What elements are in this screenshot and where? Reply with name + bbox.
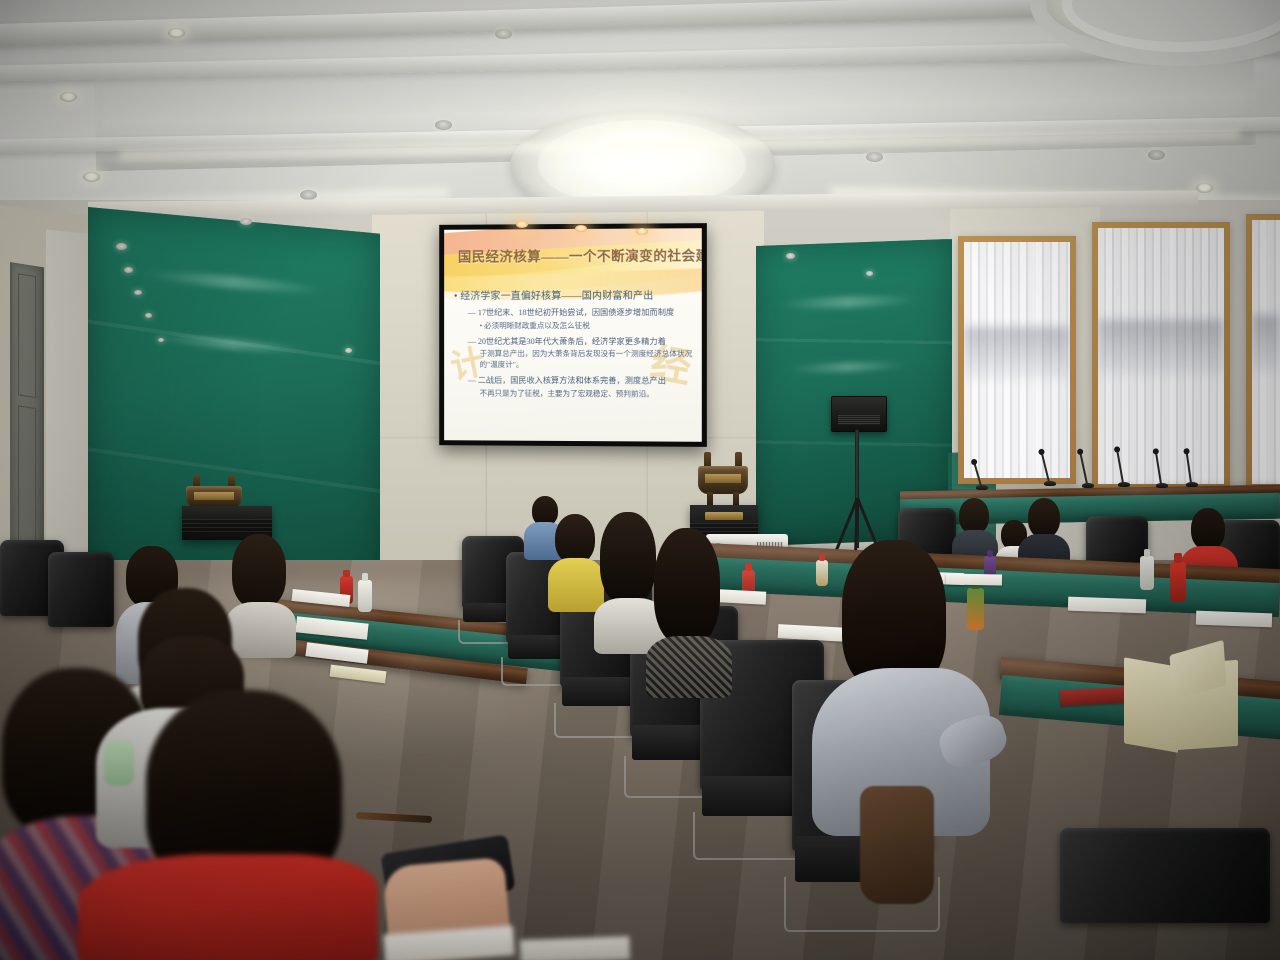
pa-speaker — [831, 396, 887, 432]
slide-bullet-level3: 于测算总产出，因为大萧条背后发现没有一个测度经济总体状况的"温度计"。 — [480, 349, 694, 371]
pedestal-plaque — [705, 512, 743, 520]
panel-reflection — [787, 360, 909, 373]
chair-back — [1060, 828, 1270, 923]
chair-back — [48, 552, 114, 627]
downlight-reflection — [116, 243, 127, 250]
window — [1092, 222, 1230, 490]
window-blinds[interactable] — [1252, 220, 1280, 484]
downlight-reflection — [124, 267, 133, 273]
attendee-torso — [646, 636, 732, 698]
downlight-icon — [1148, 150, 1165, 160]
downlight-reflection — [158, 338, 164, 342]
attendee — [646, 528, 732, 694]
downlight-icon — [83, 172, 100, 182]
downlight-reflection — [240, 218, 252, 225]
handout-paper — [520, 936, 631, 960]
speaker-grille-icon — [838, 415, 880, 425]
open-book — [1124, 662, 1238, 748]
window — [958, 236, 1076, 484]
slide-bullet-level2: — 17世纪末、18世纪初开始尝试，因国债逐步增加而制度 — [468, 307, 694, 319]
bottle-cap — [1174, 553, 1182, 563]
downlight-reflection — [866, 271, 873, 276]
handbag — [860, 786, 934, 904]
green-object — [104, 740, 134, 786]
downlight-reflection — [145, 313, 152, 318]
attendee-foreground-red — [78, 690, 378, 960]
bottle-cap — [1144, 549, 1151, 557]
slide-bullet-level2: — 二战后，国民收入核算方法和体系完善，测度总产出 — [468, 374, 694, 386]
downlight-icon — [1196, 183, 1213, 193]
slide-bullet-level3: 不再只是为了征税，主要为了宏观稳定、预判前沿。 — [480, 388, 694, 399]
blind-gap — [1126, 228, 1133, 484]
panel-reflection — [152, 332, 310, 356]
panel-reflection — [776, 294, 921, 310]
bottle-cap — [343, 570, 349, 577]
downlight-icon — [60, 92, 77, 102]
window — [1246, 214, 1280, 490]
bronze-ding-right — [698, 452, 748, 510]
microphone-base — [1186, 482, 1198, 487]
slide-bullet-level2: — 20世纪尤其是30年代大萧条后，经济学家更多精力着 — [468, 336, 694, 348]
bottle-clear — [1140, 556, 1154, 590]
attendee-torso — [78, 854, 378, 960]
blind-gap — [1032, 242, 1039, 478]
attendee-head — [1191, 508, 1225, 550]
microphone-base — [1044, 481, 1056, 486]
projection-screen: 计 经 国民经济核算——一个不断演变的社会建构 • 经济学家一直偏好核算——国内… — [439, 223, 707, 447]
window-blinds[interactable] — [964, 242, 1070, 478]
downlight-icon — [168, 28, 185, 38]
ding-band — [705, 474, 741, 483]
handout-paper — [1068, 597, 1146, 614]
ding-band — [194, 492, 234, 500]
bottle-red — [1170, 562, 1186, 602]
microphone-base — [1082, 483, 1094, 488]
panel-reflection — [141, 268, 328, 297]
downlight-icon — [636, 228, 648, 235]
blind-gap — [1167, 228, 1174, 484]
downlight-icon — [495, 29, 512, 39]
chair[interactable] — [1060, 828, 1270, 960]
conference-room-photo: 计 经 国民经济核算——一个不断演变的社会建构 • 经济学家一直偏好核算——国内… — [0, 0, 1280, 960]
attendee-hair — [232, 534, 286, 608]
slide-body: • 经济学家一直偏好核算——国内财富和产出 — 17世纪末、18世纪初开始尝试，… — [454, 287, 694, 404]
downlight-icon — [575, 225, 587, 232]
downlight-reflection — [134, 290, 142, 295]
attendee-head — [959, 498, 989, 534]
slide-bullet-level3: • 必须明晰财政重点以及怎么征税 — [480, 321, 694, 332]
bottle-cap — [745, 563, 751, 570]
downlight-icon — [435, 120, 452, 130]
microphone-base — [1156, 483, 1168, 488]
side-door[interactable] — [10, 262, 44, 565]
downlight-icon — [516, 221, 528, 228]
downlight-reflection — [345, 348, 352, 353]
slide-title: 国民经济核算——一个不断演变的社会建构 — [458, 244, 694, 265]
bottle-clear — [358, 580, 372, 612]
blind-gap — [1263, 220, 1270, 484]
slide-surface: 计 经 国民经济核算——一个不断演变的社会建构 • 经济学家一直偏好核算——国内… — [444, 228, 702, 442]
microphone-base — [976, 485, 988, 490]
attendee-hair — [654, 528, 720, 644]
handout-paper — [1196, 611, 1272, 628]
microphone-base — [1118, 482, 1130, 487]
wall-pillar — [46, 229, 94, 582]
downlight-reflection — [786, 253, 795, 259]
downlight-icon — [866, 152, 883, 162]
slide-bullet-main: • 经济学家一直偏好核算——国内财富和产出 — [454, 287, 694, 303]
attendee-head — [1028, 498, 1060, 538]
attendee-head — [555, 514, 595, 564]
bottle-cap — [362, 573, 369, 581]
